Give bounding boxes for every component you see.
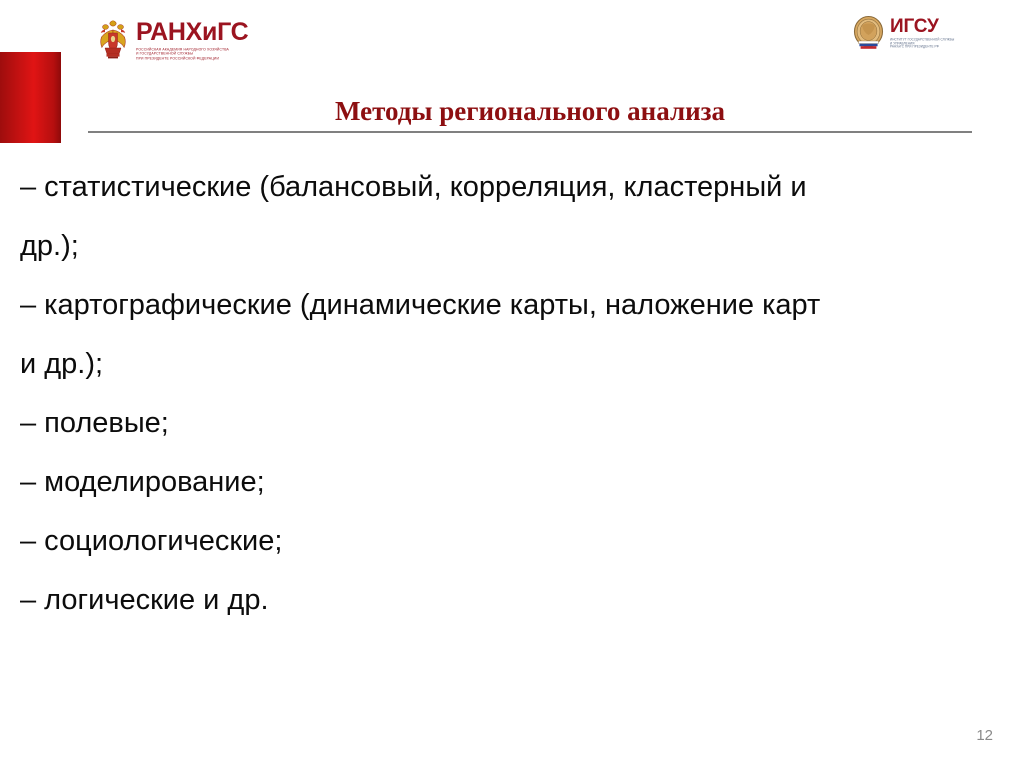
igsu-logo: ИГСУ ИНСТИТУТ ГОСУДАРСТВЕННОЙ СЛУЖБЫ И У… [852, 14, 954, 52]
body-line: – картографические (динамические карты, … [20, 276, 1000, 335]
body-line: – социологические; [20, 512, 1000, 571]
ranepa-logo: РАНХиГС РОССИЙСКАЯ АКАДЕМИЯ НАРОДНОГО ХО… [96, 20, 248, 60]
ranepa-wordmark: РАНХиГС [136, 20, 248, 45]
ranepa-subtitle: РОССИЙСКАЯ АКАДЕМИЯ НАРОДНОГО ХОЗЯЙСТВА … [136, 47, 248, 60]
body-content-list: – статистические (балансовый, корреляция… [20, 158, 1000, 630]
ranepa-wordmark-group: РАНХиГС РОССИЙСКАЯ АКАДЕМИЯ НАРОДНОГО ХО… [136, 20, 248, 60]
title-divider [88, 131, 972, 133]
igsu-subtitle-line-3: РАНХиГС ПРИ ПРЕЗИДЕНТЕ РФ [890, 45, 954, 49]
body-line: и др.); [20, 335, 1000, 394]
body-line: – моделирование; [20, 453, 1000, 512]
ranepa-subtitle-line-3: ПРИ ПРЕЗИДЕНТЕ РОССИЙСКОЙ ФЕДЕРАЦИИ [136, 56, 248, 61]
igsu-wordmark-group: ИГСУ ИНСТИТУТ ГОСУДАРСТВЕННОЙ СЛУЖБЫ И У… [890, 17, 954, 50]
slide-title: Методы регионального анализа [88, 96, 972, 126]
body-line: – статистические (балансовый, корреляция… [20, 158, 1000, 217]
presentation-slide: РАНХиГС РОССИЙСКАЯ АКАДЕМИЯ НАРОДНОГО ХО… [0, 0, 1024, 767]
igsu-subtitle: ИНСТИТУТ ГОСУДАРСТВЕННОЙ СЛУЖБЫ И УПРАВЛ… [890, 38, 954, 50]
page-number: 12 [976, 727, 993, 744]
decorative-red-block [0, 52, 61, 143]
body-line: – полевые; [20, 394, 1000, 453]
double-headed-eagle-icon [96, 20, 130, 60]
igsu-wordmark: ИГСУ [890, 17, 954, 36]
body-line: – логические и др. [20, 571, 1000, 630]
body-line: др.); [20, 217, 1000, 276]
oval-state-emblem-icon [852, 14, 885, 52]
